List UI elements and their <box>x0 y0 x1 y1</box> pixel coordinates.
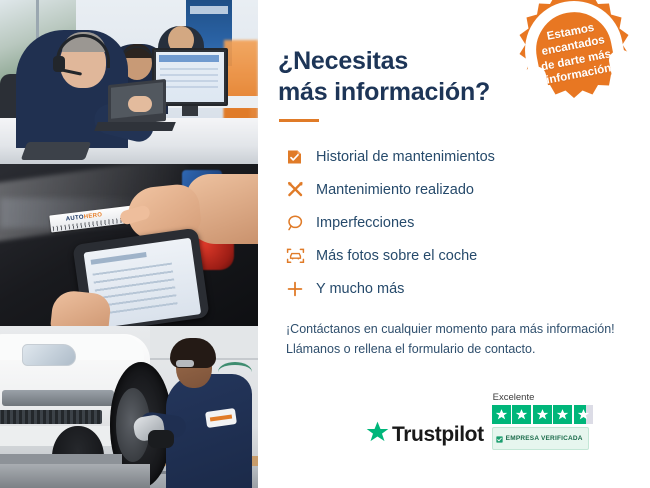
feature-label: Mantenimiento realizado <box>316 182 474 198</box>
trustpilot-stars <box>492 405 593 424</box>
mechanic-wheel-photo <box>0 326 258 488</box>
photo-column: AUTOHERO <box>0 0 258 488</box>
check-square-icon <box>496 430 503 448</box>
feature-label: Más fotos sobre el coche <box>316 248 477 264</box>
trustpilot-logo: Trustpilot <box>366 421 484 450</box>
feature-label: Y mucho más <box>316 281 404 297</box>
trustpilot-widget: Trustpilot Excelente <box>366 392 593 450</box>
star-icon <box>492 405 511 424</box>
list-item: Y mucho más <box>286 272 650 305</box>
list-item: Historial de mantenimientos <box>286 140 650 173</box>
feature-label: Historial de mantenimientos <box>316 149 495 165</box>
verified-company-label: EMPRESA VERIFICADA <box>506 435 583 442</box>
feature-label: Imperfecciones <box>316 215 414 231</box>
autohero-ruler-brand: AUTOHERO <box>66 212 103 222</box>
content-panel: Estamos encantados de darte más informac… <box>258 0 650 488</box>
feature-list: Historial de mantenimientos Mantenimient… <box>286 140 650 305</box>
paragraph-line-2: Llámanos o rellena el formulario de cont… <box>286 342 535 356</box>
verified-company-badge: EMPRESA VERIFICADA <box>492 427 589 450</box>
star-icon <box>533 405 552 424</box>
list-item: Imperfecciones <box>286 206 650 239</box>
call-center-agents-photo <box>0 0 258 164</box>
heading-line-2: más información? <box>278 78 490 106</box>
plus-icon <box>286 280 316 298</box>
star-icon <box>553 405 572 424</box>
info-badge: Estamos encantados de darte más informac… <box>512 0 636 112</box>
star-icon <box>512 405 531 424</box>
heading-line-1: ¿Necesitas <box>278 47 408 75</box>
trustpilot-star-icon <box>366 421 389 448</box>
tools-cross-icon <box>286 180 316 199</box>
trustpilot-rating-label: Excelente <box>493 392 535 403</box>
contact-paragraph: ¡Contáctanos en cualquier momento para m… <box>286 319 636 360</box>
promo-card: AUTOHERO <box>0 0 650 488</box>
magnifier-icon <box>286 214 316 232</box>
list-item: Mantenimiento realizado <box>286 173 650 206</box>
car-inspection-ruler-photo: AUTOHERO <box>0 164 258 326</box>
car-scan-icon <box>286 247 316 265</box>
paragraph-line-1: ¡Contáctanos en cualquier momento para m… <box>286 322 615 336</box>
list-item: Más fotos sobre el coche <box>286 239 650 272</box>
page-title: ¿Necesitas más información? <box>278 46 518 107</box>
title-divider <box>279 119 319 122</box>
trustpilot-wordmark: Trustpilot <box>392 423 484 447</box>
star-icon-partial <box>574 405 593 424</box>
clipboard-check-icon <box>286 148 316 166</box>
